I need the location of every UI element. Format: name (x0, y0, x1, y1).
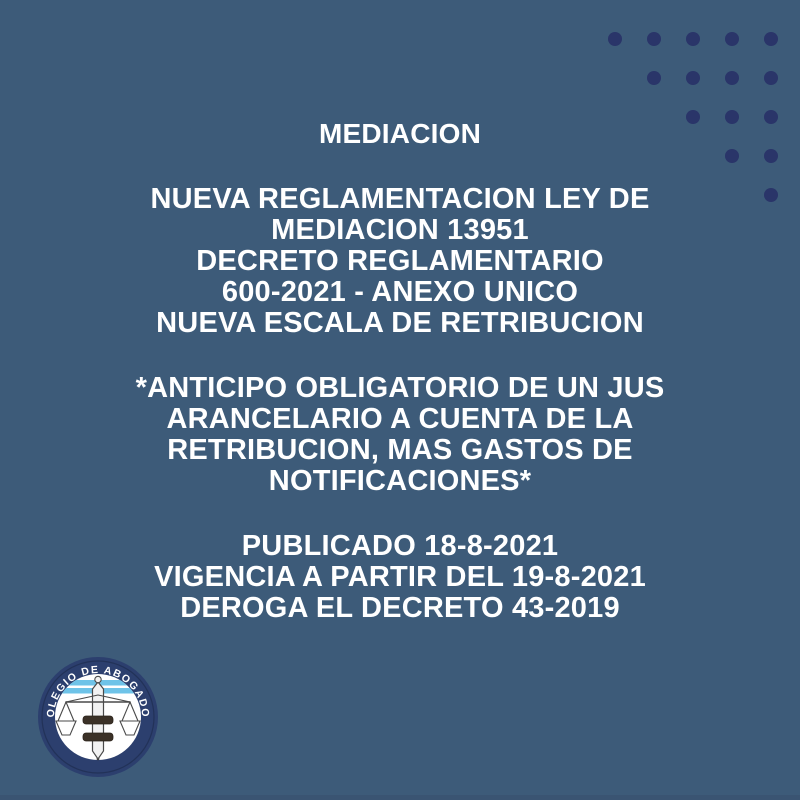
law-reference-block: NUEVA REGLAMENTACION LEY DE MEDIACION 13… (0, 184, 800, 339)
dates-block: PUBLICADO 18-8-2021 VIGENCIA A PARTIR DE… (0, 531, 800, 624)
law-line: NUEVA ESCALA DE RETRIBUCION (0, 308, 800, 339)
title-line: MEDIACION (0, 118, 800, 150)
colegio-de-abogados-logo: COLEGIO DE ABOGADOS (36, 655, 160, 779)
law-line: MEDIACION 13951 (0, 215, 800, 246)
note-line: *ANTICIPO OBLIGATORIO DE UN JUS (0, 373, 800, 404)
bottom-edge-strip (0, 795, 800, 800)
law-line: 600-2021 - ANEXO UNICO (0, 277, 800, 308)
poster-canvas: MEDIACION NUEVA REGLAMENTACION LEY DE ME… (0, 0, 800, 800)
law-line: NUEVA REGLAMENTACION LEY DE (0, 184, 800, 215)
note-line: NOTIFICACIONES* (0, 466, 800, 497)
date-line: VIGENCIA A PARTIR DEL 19-8-2021 (0, 562, 800, 593)
law-line: DECRETO REGLAMENTARIO (0, 246, 800, 277)
poster-text-content: MEDIACION NUEVA REGLAMENTACION LEY DE ME… (0, 0, 800, 624)
date-line: PUBLICADO 18-8-2021 (0, 531, 800, 562)
note-line: ARANCELARIO A CUENTA DE LA (0, 404, 800, 435)
advance-payment-note-block: *ANTICIPO OBLIGATORIO DE UN JUS ARANCELA… (0, 373, 800, 497)
date-line: DEROGA EL DECRETO 43-2019 (0, 593, 800, 624)
poster-title: MEDIACION (0, 118, 800, 150)
note-line: RETRIBUCION, MAS GASTOS DE (0, 435, 800, 466)
